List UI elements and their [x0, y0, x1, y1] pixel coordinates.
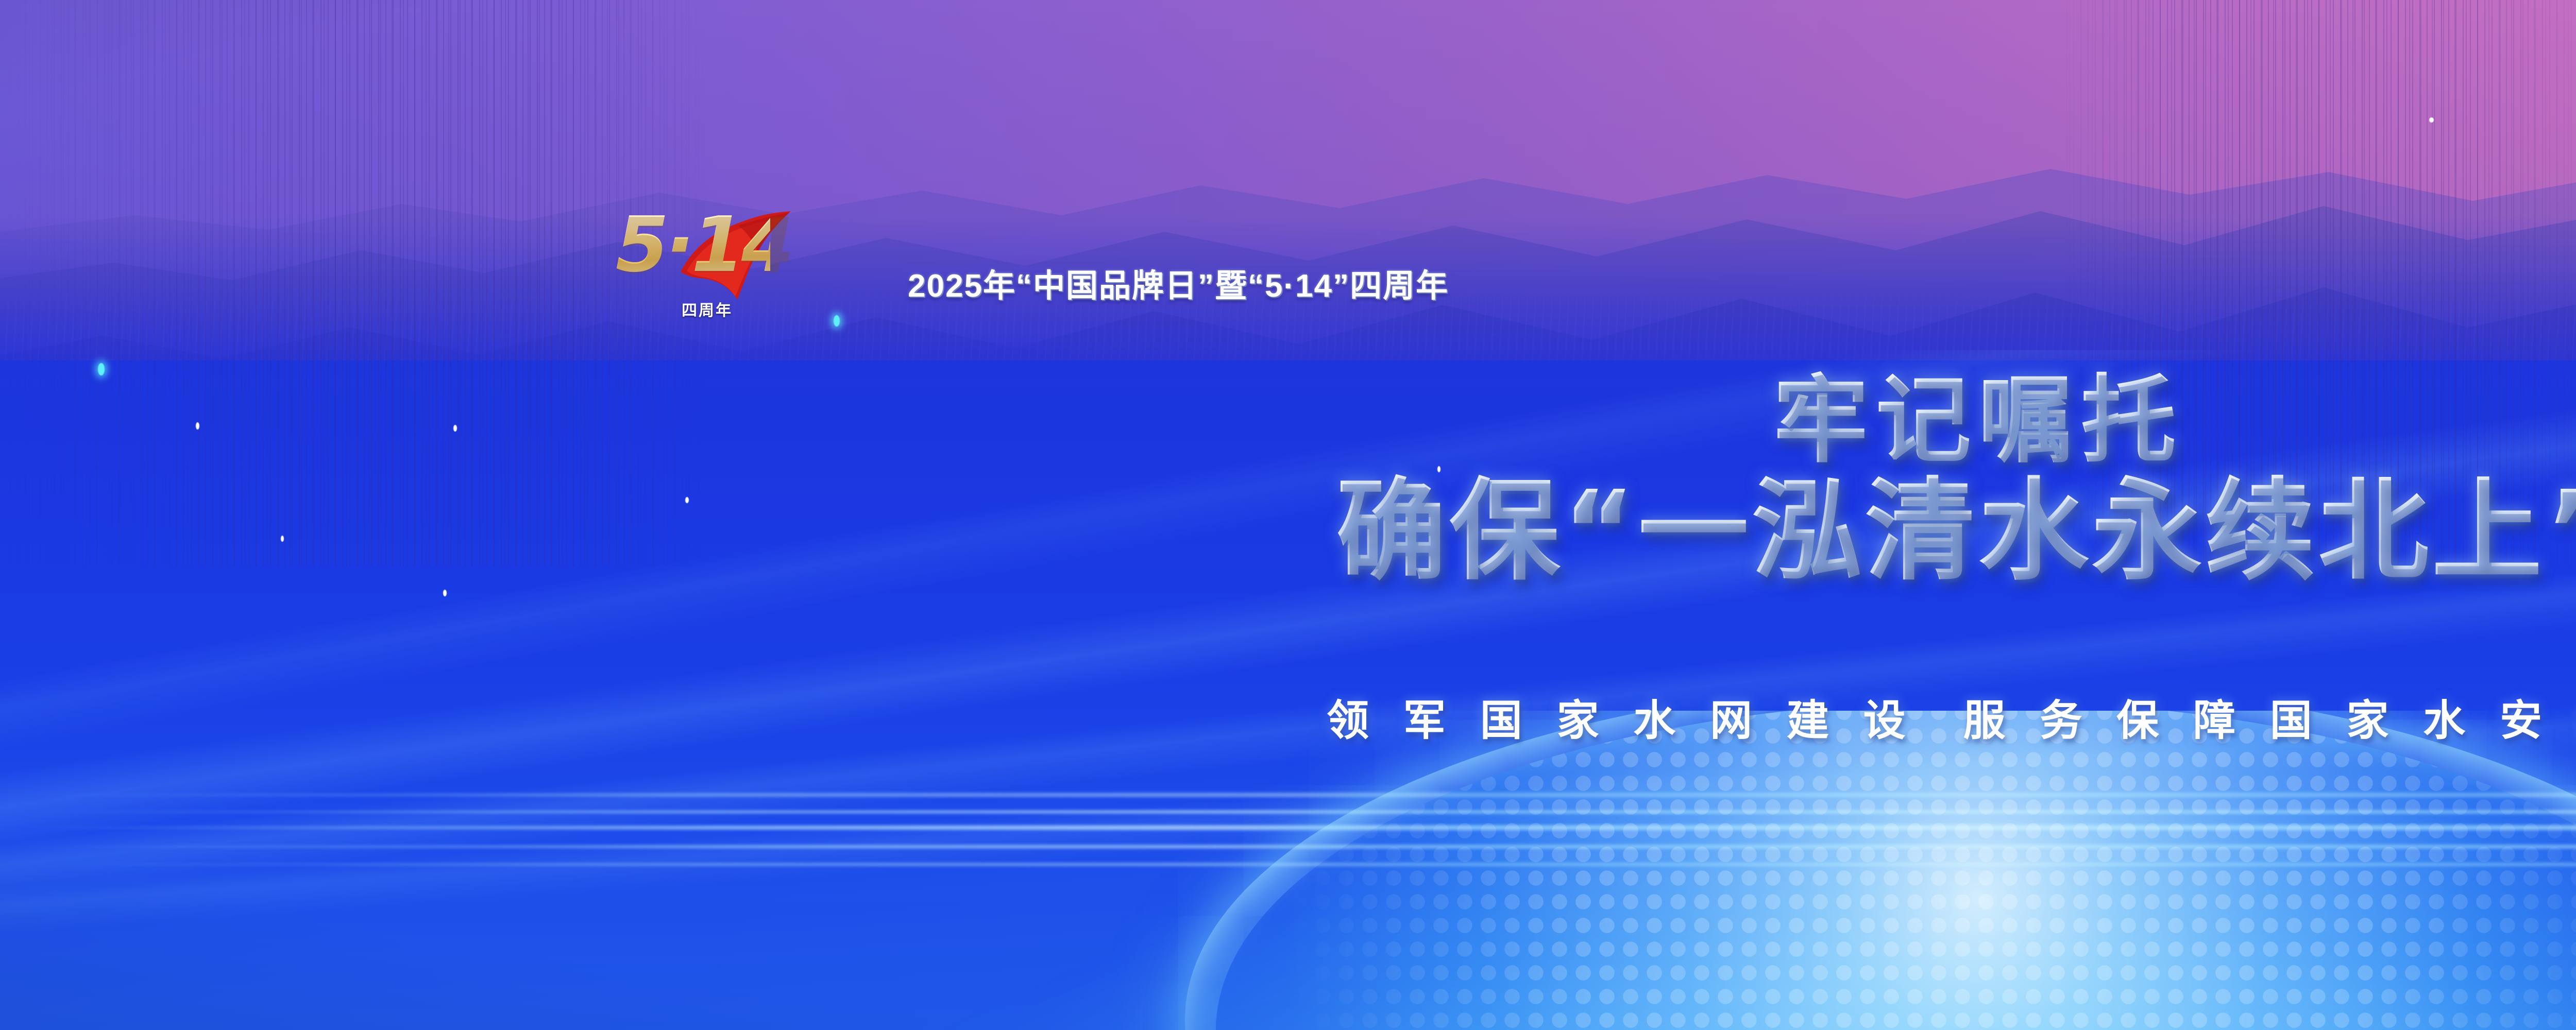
- headline-line-2: 确保“一泓清水永续北上”: [0, 473, 2576, 590]
- anniversary-number: 5·14: [616, 206, 770, 296]
- event-title-line: 2025年“中国品牌日”暨“5·14”四周年: [908, 260, 1449, 306]
- event-banner-backdrop: 5·14 四周年 2025年“中国品牌日”暨“5·14”四周年: [0, 0, 2576, 1030]
- anniversary-sub-label: 四周年: [682, 298, 733, 320]
- headline-block: 牢记嘱托 确保“一泓清水永续北上”: [0, 370, 2576, 590]
- bottom-slogan-part-2: 服 务 保 障 国 家 水 安 全: [1963, 697, 2576, 744]
- bottom-slogan-part-1: 领 军 国 家 水 网 建 设: [1327, 697, 1917, 744]
- bottom-slogan: 领 军 国 家 水 网 建 设服 务 保 障 国 家 水 安 全: [0, 696, 2576, 746]
- anniversary-logo: 5·14 四周年: [616, 206, 796, 327]
- banner-content: 5·14 四周年 2025年“中国品牌日”暨“5·14”四周年: [0, 0, 2576, 1030]
- headline-line-1: 牢记嘱托: [0, 370, 2576, 471]
